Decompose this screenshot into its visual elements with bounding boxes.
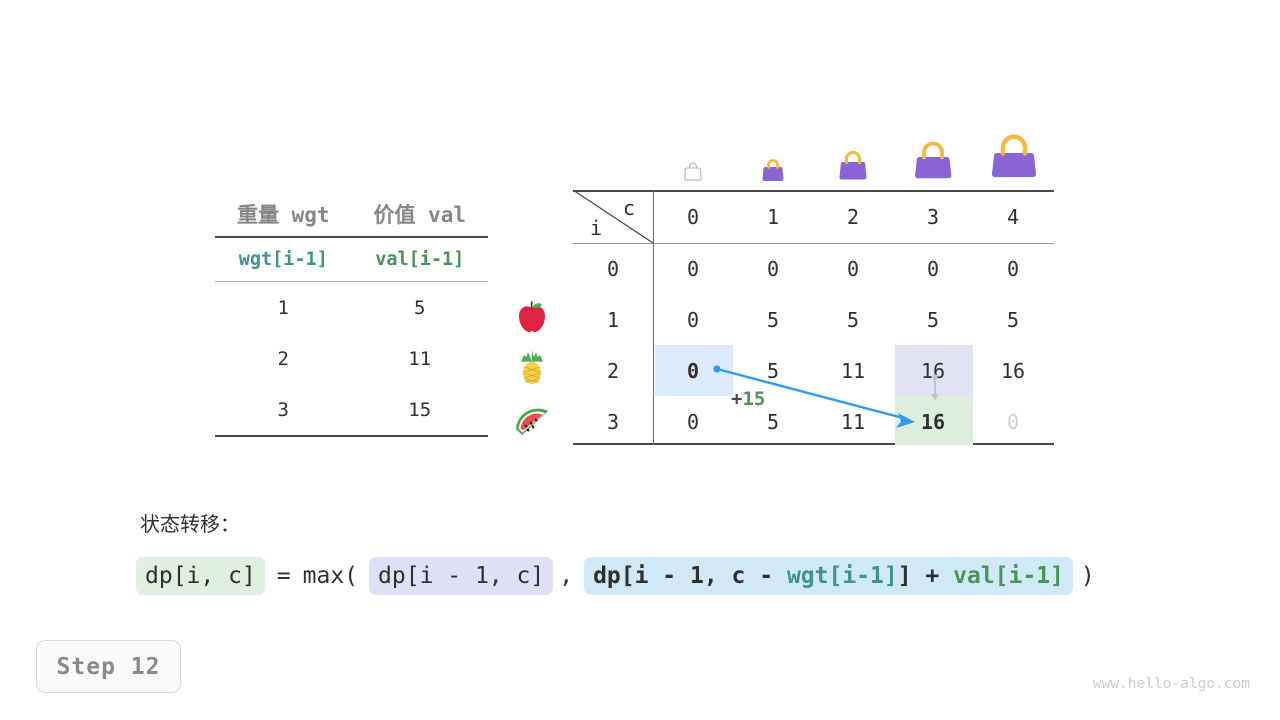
dp-cell-0-0: 0 <box>653 243 733 294</box>
apple-icon <box>512 297 552 337</box>
dp-row-header-1: 1 <box>573 294 653 345</box>
formula-wgt-term: wgt[i-1] <box>787 563 898 589</box>
dp-cell-3-2: 11 <box>813 396 893 447</box>
dp-col-header-1: 1 <box>733 191 813 242</box>
item-table-subheader-val: val[i-1] <box>352 249 489 270</box>
dp-col-header-4: 4 <box>973 191 1053 242</box>
dp-cell-3-4: 0 <box>973 396 1053 447</box>
item-table-header-row: 重量 wgt 价值 val <box>215 192 488 236</box>
item-wgt-1: 1 <box>215 297 352 319</box>
item-table-subheader-row: wgt[i-1] val[i-1] <box>215 238 488 281</box>
item-table-subheader-wgt: wgt[i-1] <box>215 249 352 270</box>
dp-cell-2-0: 0 <box>653 345 733 396</box>
formula-val-term: val[i-1] <box>953 563 1064 589</box>
dp-row-header-0: 0 <box>573 243 653 294</box>
dp-cell-0-2: 0 <box>813 243 893 294</box>
dp-cell-1-0: 0 <box>653 294 733 345</box>
item-wgt-3: 3 <box>215 399 352 421</box>
state-transition-formula: dp[i, c] = max( dp[i - 1, c] , dp[i - 1,… <box>136 557 1101 595</box>
dp-cell-1-4: 5 <box>973 294 1053 345</box>
bag-icon-2 <box>831 140 875 186</box>
dp-col-axis-label: c <box>623 196 635 220</box>
vertical-transfer-arrow-icon <box>928 374 942 404</box>
dp-col-header-2: 2 <box>813 191 893 242</box>
bag-icon-4 <box>983 124 1045 186</box>
bag-icon-1 <box>753 146 793 186</box>
formula-arg-take-mid: ] + <box>898 563 953 589</box>
formula-max-fn: max( <box>297 563 364 589</box>
dp-cell-3-0: 0 <box>653 396 733 447</box>
dp-cell-0-1: 0 <box>733 243 813 294</box>
dp-table: c i 0 1 2 3 4 0 1 2 3 0 0 0 0 0 0 5 5 5 … <box>573 190 1054 445</box>
formula-arg-take: dp[i - 1, c - wgt[i-1]] + val[i-1] <box>584 557 1073 595</box>
item-val-2: 11 <box>352 348 489 370</box>
formula-equals: = <box>265 563 297 589</box>
bag-icon-3 <box>906 132 960 186</box>
pineapple-icon <box>512 348 552 388</box>
item-table-header-val: 价值 val <box>352 199 489 229</box>
dp-cell-2-4: 16 <box>973 345 1053 396</box>
dp-cell-2-2: 11 <box>813 345 893 396</box>
dp-col-header-0: 0 <box>653 191 733 242</box>
item-table-row: 2 11 <box>215 333 488 384</box>
item-weight-value-table: 重量 wgt 价值 val wgt[i-1] val[i-1] 1 5 2 11… <box>215 192 488 437</box>
dp-cell-0-4: 0 <box>973 243 1053 294</box>
formula-lhs: dp[i, c] <box>136 557 265 595</box>
item-table-row: 1 5 <box>215 282 488 333</box>
state-transition-label: 状态转移： <box>140 508 240 537</box>
item-table-header-wgt: 重量 wgt <box>215 199 352 229</box>
item-val-3: 15 <box>352 399 489 421</box>
dp-axis-diagonal <box>573 190 653 243</box>
slide-canvas: 重量 wgt 价值 val wgt[i-1] val[i-1] 1 5 2 11… <box>0 0 1280 720</box>
dp-cell-1-3: 5 <box>893 294 973 345</box>
increment-value: 15 <box>742 388 765 410</box>
dp-row-header-2: 2 <box>573 345 653 396</box>
formula-arg-no-take: dp[i - 1, c] <box>369 557 553 595</box>
bag-icon-0 <box>673 155 713 185</box>
item-wgt-2: 2 <box>215 348 352 370</box>
item-table-row: 3 15 <box>215 384 488 435</box>
dp-cell-1-1: 5 <box>733 294 813 345</box>
dp-cell-1-2: 5 <box>813 294 893 345</box>
formula-arg-take-prefix: dp[i - 1, c - <box>593 563 787 589</box>
dp-cell-0-3: 0 <box>893 243 973 294</box>
dp-row-header-3: 3 <box>573 396 653 447</box>
value-increment-annotation: +15 <box>731 388 765 410</box>
item-table-divider-bottom <box>215 435 488 437</box>
item-val-1: 5 <box>352 297 489 319</box>
watermelon-icon <box>512 399 552 439</box>
dp-col-header-3: 3 <box>893 191 973 242</box>
formula-comma: , <box>553 563 579 589</box>
increment-plus-sign: + <box>731 388 742 410</box>
watermark: www.hello-algo.com <box>1093 676 1250 692</box>
dp-row-axis-label: i <box>590 216 602 240</box>
formula-close-paren: ) <box>1073 563 1101 589</box>
step-badge: Step 12 <box>36 640 181 693</box>
